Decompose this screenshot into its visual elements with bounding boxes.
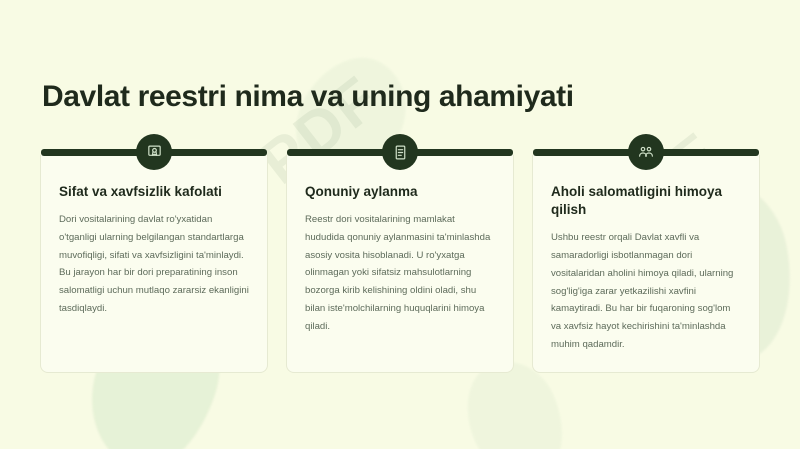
info-card-public-health[interactable]: Aholi salomatligini himoya qilish Ushbu … bbox=[532, 155, 760, 373]
info-card-quality-safety[interactable]: Sifat va xavfsizlik kafolati Dori vosita… bbox=[40, 155, 268, 373]
certificate-shield-icon bbox=[136, 134, 172, 170]
card-title: Qonuniy aylanma bbox=[305, 183, 495, 201]
document-icon bbox=[382, 134, 418, 170]
page-title: Davlat reestri nima va uning ahamiyati bbox=[42, 80, 574, 114]
card-body: Reestr dori vositalarining mamlakat hudu… bbox=[305, 211, 495, 335]
card-body: Dori vositalarining davlat ro'yxatidan o… bbox=[59, 211, 249, 317]
card-title: Sifat va xavfsizlik kafolati bbox=[59, 183, 249, 201]
slide-container: Davlat reestri nima va uning ahamiyati S… bbox=[0, 0, 800, 449]
card-body: Ushbu reestr orqali Davlat xavfli va sam… bbox=[551, 229, 741, 353]
card-title: Aholi salomatligini himoya qilish bbox=[551, 183, 741, 219]
info-card-legal-circulation[interactable]: Qonuniy aylanma Reestr dori vositalarini… bbox=[286, 155, 514, 373]
card-grid: Sifat va xavfsizlik kafolati Dori vosita… bbox=[40, 155, 760, 373]
people-health-icon bbox=[628, 134, 664, 170]
